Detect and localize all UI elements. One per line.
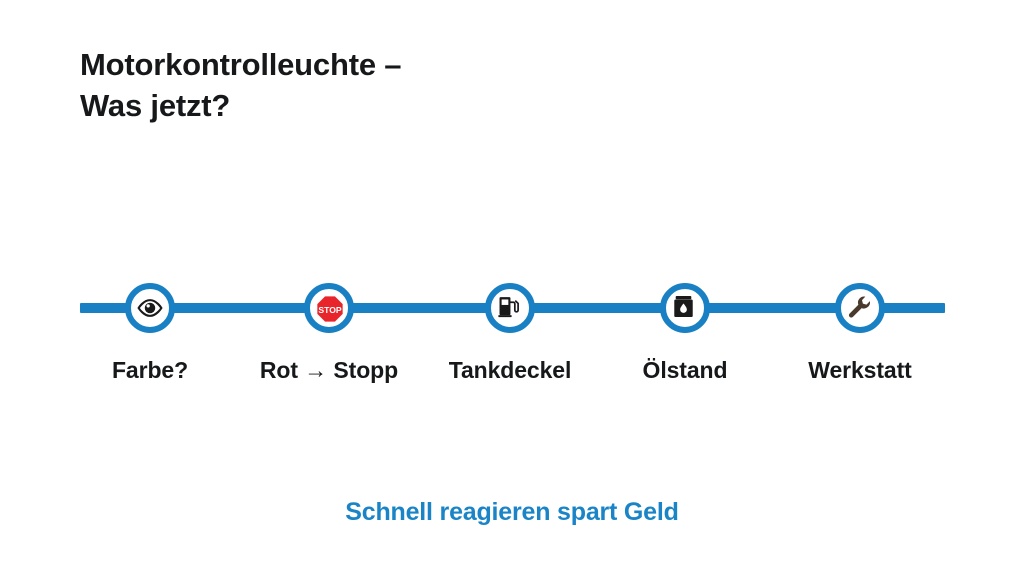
eye-icon — [136, 294, 164, 322]
footer-tagline: Schnell reagieren spart Geld — [0, 498, 1024, 527]
timeline-node-3[interactable] — [485, 283, 535, 333]
oil-can-icon — [671, 294, 699, 322]
timeline-node-5[interactable] — [835, 283, 885, 333]
fuel-pump-icon — [496, 294, 524, 322]
svg-text:STOP: STOP — [318, 305, 342, 315]
timeline-label-5: Werkstatt — [730, 357, 990, 384]
wrench-icon — [846, 294, 874, 322]
timeline: Farbe? STOP Rot → Stopp Tankdeckel — [0, 0, 1024, 572]
timeline-node-2[interactable]: STOP — [304, 283, 354, 333]
stop-sign-icon: STOP — [315, 294, 343, 322]
timeline-node-4[interactable] — [660, 283, 710, 333]
timeline-node-1[interactable] — [125, 283, 175, 333]
